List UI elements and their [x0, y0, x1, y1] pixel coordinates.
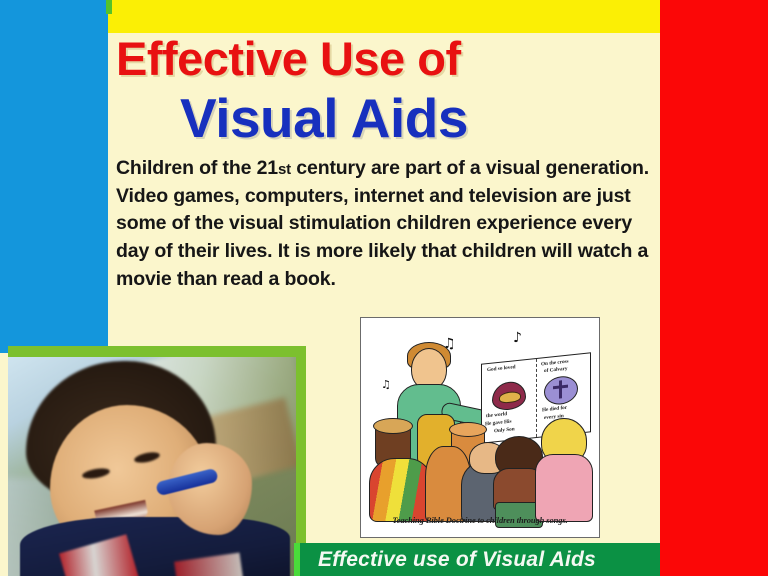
- poster-right-line-2: of Calvary: [544, 366, 567, 374]
- body-p1-part-a: Children of the 21: [116, 157, 278, 179]
- photo-boy: [8, 357, 296, 576]
- body-p1-part-b: century are part of a visual generation.: [291, 157, 649, 179]
- poster-left-line-1: God so loved: [487, 364, 516, 373]
- title-line-1: Effective Use of: [116, 34, 461, 83]
- top-green-sliver: [106, 0, 112, 14]
- illustration-canvas: ♫ ♪ ♫ ♫ God so loved the world He gave H…: [365, 322, 595, 533]
- poster-left-line-2: the world: [486, 411, 507, 419]
- music-note-icon-2: ♪: [513, 330, 522, 346]
- drum-1-head: [373, 418, 413, 434]
- illustration-caption: Teaching Bible Doctrine to children thro…: [365, 515, 595, 525]
- child-5-dress: [535, 454, 593, 522]
- photo-boy-shirt: [20, 517, 290, 576]
- ordinal-suffix: st: [278, 161, 291, 178]
- poster-left-line-4: Only Son: [494, 426, 515, 434]
- footer-title: Effective use of Visual Aids: [318, 548, 596, 572]
- globe-graphic: [544, 375, 578, 407]
- body-paragraph-1: Children of the 21st century are part of…: [116, 155, 661, 183]
- photo-frame: [8, 346, 306, 576]
- footer-bar: Effective use of Visual Aids: [300, 543, 660, 576]
- cross-icon: [559, 380, 562, 398]
- heart-graphic: [492, 380, 526, 412]
- body-paragraph-2: Video games, computers, internet and tel…: [116, 183, 661, 294]
- body-copy: Children of the 21st century are part of…: [116, 155, 661, 293]
- left-blue-band: [0, 0, 108, 353]
- drum-3-head: [449, 422, 487, 437]
- top-yellow-band: [108, 0, 660, 33]
- child-1-body: [369, 458, 433, 522]
- title-line-2: Visual Aids: [180, 90, 468, 148]
- slide-canvas: Effective Use of Visual Aids Children of…: [0, 0, 768, 576]
- right-red-band: [660, 0, 768, 576]
- illustration-frame: ♫ ♪ ♫ ♫ God so loved the world He gave H…: [360, 317, 600, 538]
- music-note-icon-3: ♫: [381, 378, 391, 391]
- poster-divider: [536, 359, 537, 437]
